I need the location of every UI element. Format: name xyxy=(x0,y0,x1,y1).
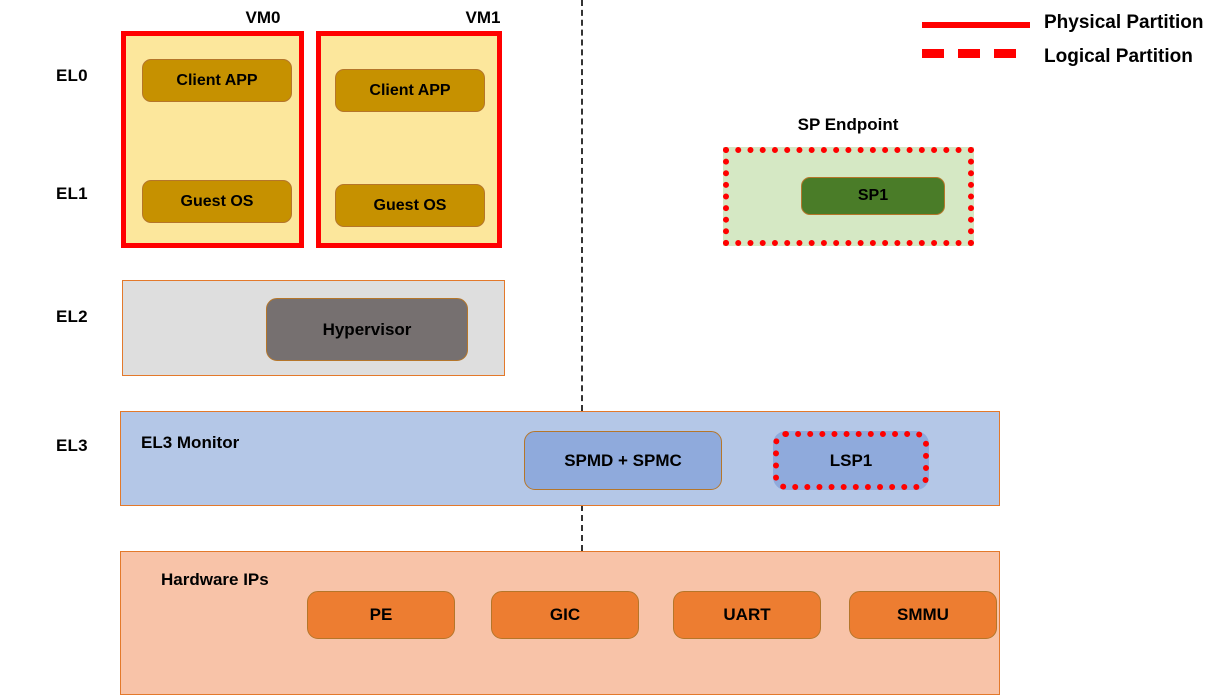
sp1-box[interactable]: SP1 xyxy=(801,177,945,215)
sp-endpoint-caption: SP Endpoint xyxy=(768,115,928,135)
el2-band: Hypervisor xyxy=(122,280,505,376)
spmd-spmc-box[interactable]: SPMD + SPMC xyxy=(524,431,722,490)
hardware-band: Hardware IPs PE GIC UART SMMU xyxy=(120,551,1000,695)
vm0-client-app[interactable]: Client APP xyxy=(142,59,292,102)
vm1-caption: VM1 xyxy=(423,8,543,28)
lsp1-box[interactable]: LSP1 xyxy=(773,431,929,490)
secure-world-divider-lower xyxy=(581,505,583,551)
legend-physical-label: Physical Partition xyxy=(1044,12,1203,34)
hypervisor-box[interactable]: Hypervisor xyxy=(266,298,468,361)
legend-logical-label: Logical Partition xyxy=(1044,46,1193,68)
legend-physical-swatch xyxy=(922,22,1030,28)
el3-monitor-title: EL3 Monitor xyxy=(141,433,239,453)
vm1-guest-os[interactable]: Guest OS xyxy=(335,184,485,227)
vm0-partition[interactable]: Client APP Guest OS xyxy=(121,31,304,248)
exception-level-label-el3: EL3 xyxy=(56,436,88,456)
legend-logical-swatch xyxy=(922,49,1016,58)
vm0-caption: VM0 xyxy=(203,8,323,28)
vm0-guest-os[interactable]: Guest OS xyxy=(142,180,292,223)
exception-level-label-el1: EL1 xyxy=(56,184,88,204)
sp-endpoint-partition[interactable]: SP1 xyxy=(723,147,974,246)
secure-world-divider-upper xyxy=(581,0,583,411)
hardware-box-pe[interactable]: PE xyxy=(307,591,455,639)
vm1-partition[interactable]: Client APP Guest OS xyxy=(316,31,502,248)
vm1-client-app[interactable]: Client APP xyxy=(335,69,485,112)
exception-level-label-el0: EL0 xyxy=(56,66,88,86)
hardware-box-smmu[interactable]: SMMU xyxy=(849,591,997,639)
hardware-box-uart[interactable]: UART xyxy=(673,591,821,639)
hardware-box-gic[interactable]: GIC xyxy=(491,591,639,639)
legend: Physical Partition Logical Partition xyxy=(920,14,1220,78)
hardware-ips-title: Hardware IPs xyxy=(161,570,269,590)
diagram-canvas: Physical Partition Logical Partition EL0… xyxy=(0,0,1220,696)
el3-band: EL3 Monitor SPMD + SPMC LSP1 xyxy=(120,411,1000,506)
exception-level-label-el2: EL2 xyxy=(56,307,88,327)
